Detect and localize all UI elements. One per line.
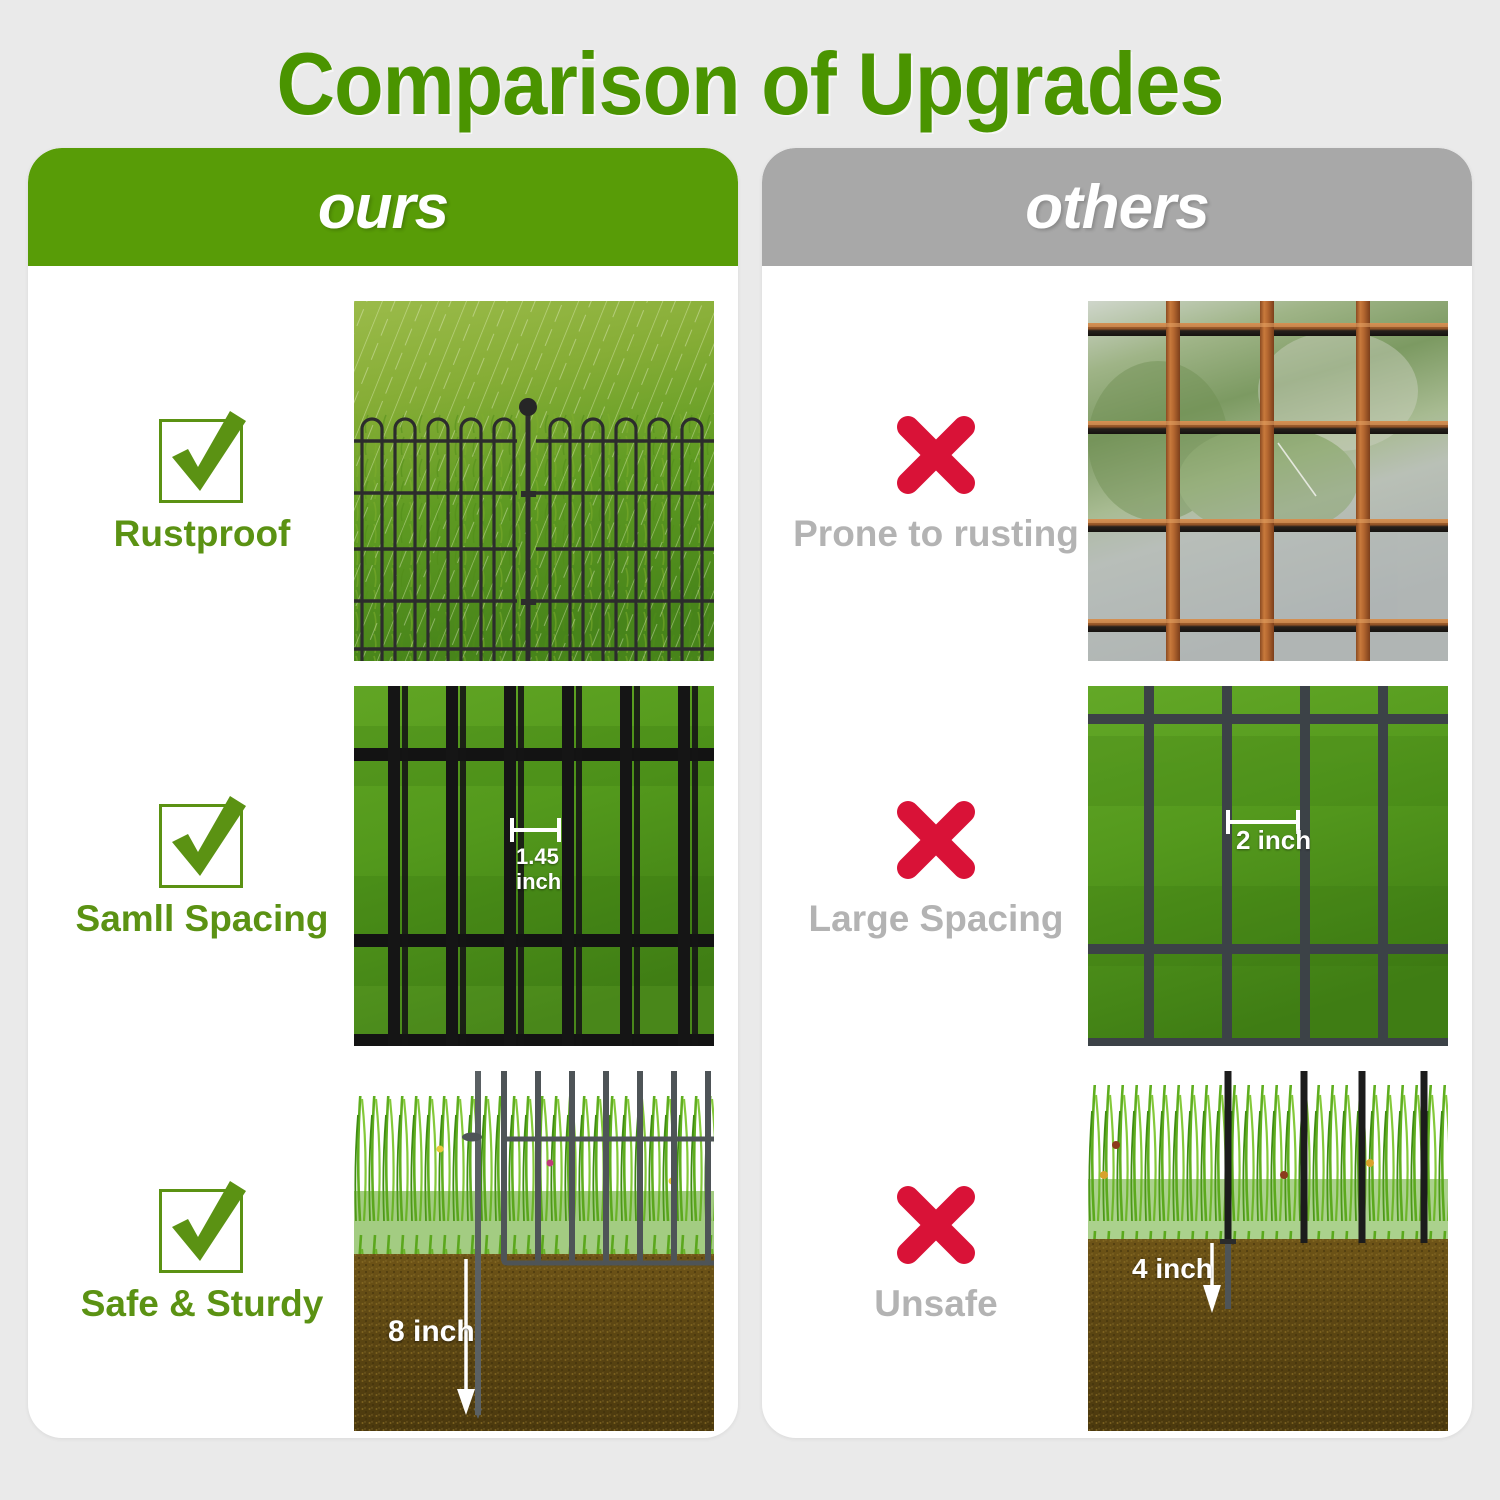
feature-prone-to-rusting: Prone to rusting <box>786 407 1086 555</box>
dimension-label-2-inch: 2 inch <box>1236 826 1311 856</box>
red-x-icon <box>888 792 984 888</box>
column-header-label-ours: ours <box>318 172 448 243</box>
feature-rustproof: Rustproof <box>52 407 352 555</box>
feature-large-spacing: Large Spacing <box>786 792 1086 940</box>
feature-label-unsafe: Unsafe <box>874 1283 997 1325</box>
column-header-others: others <box>762 148 1472 266</box>
figure-wrap-rustproof <box>352 301 714 661</box>
row-prone-to-rusting: Prone to rusting <box>762 288 1472 673</box>
wide-spaced-bars-over-grass: 2 inch <box>1088 686 1448 1046</box>
rusty-wire-mesh-grid <box>1088 301 1448 661</box>
column-header-label-others: others <box>1025 172 1208 243</box>
column-header-ours: ours <box>28 148 738 266</box>
row-rustproof: Rustproof <box>28 288 738 673</box>
feature-label-rustproof: Rustproof <box>114 513 291 555</box>
narrow-spaced-black-bars-over-grass: 1.45 inch <box>354 686 714 1046</box>
row-unsafe: Unsafe <box>762 1058 1472 1438</box>
column-body-others: Prone to rusting <box>762 266 1472 1438</box>
green-check-icon <box>154 1177 250 1273</box>
feature-small-spacing: Samll Spacing <box>52 792 352 940</box>
row-small-spacing: Samll Spacing <box>28 673 738 1058</box>
feature-label-safe-sturdy: Safe & Sturdy <box>81 1283 324 1325</box>
red-x-icon <box>888 1177 984 1273</box>
column-others: others Prone to rusting <box>762 148 1472 1438</box>
figure-wrap-large-spacing: 2 inch <box>1086 686 1448 1046</box>
dimension-label-1-45-inch: 1.45 inch <box>516 844 561 895</box>
figure-wrap-prone-to-rusting <box>1086 301 1448 661</box>
rainy-grass-with-black-arch-top-fence <box>354 301 714 661</box>
feature-label-prone-to-rusting: Prone to rusting <box>793 513 1079 555</box>
row-safe-sturdy: Safe & Sturdy <box>28 1058 738 1438</box>
column-body-ours: Rustproof <box>28 266 738 1438</box>
feature-label-large-spacing: Large Spacing <box>809 898 1064 940</box>
column-ours: ours Rustproof <box>28 148 738 1438</box>
feature-label-small-spacing: Samll Spacing <box>76 898 329 940</box>
green-check-icon <box>154 407 250 503</box>
dimension-label-4-inch: 4 inch <box>1132 1253 1213 1285</box>
feature-unsafe: Unsafe <box>786 1177 1086 1325</box>
red-x-icon <box>888 407 984 503</box>
figure-wrap-unsafe: 4 inch <box>1086 1071 1448 1431</box>
page-title: Comparison of Upgrades <box>60 0 1440 148</box>
deep-stake-in-soil-cross-section: 8 inch <box>354 1071 714 1431</box>
figure-wrap-safe-sturdy: 8 inch <box>352 1071 714 1431</box>
shallow-stake-in-soil-cross-section: 4 inch <box>1088 1071 1448 1431</box>
figure-wrap-small-spacing: 1.45 inch <box>352 686 714 1046</box>
feature-safe-sturdy: Safe & Sturdy <box>52 1177 352 1325</box>
dimension-label-8-inch: 8 inch <box>388 1315 475 1350</box>
comparison-columns: ours Rustproof <box>0 148 1500 1448</box>
row-large-spacing: Large Spacing <box>762 673 1472 1058</box>
green-check-icon <box>154 792 250 888</box>
